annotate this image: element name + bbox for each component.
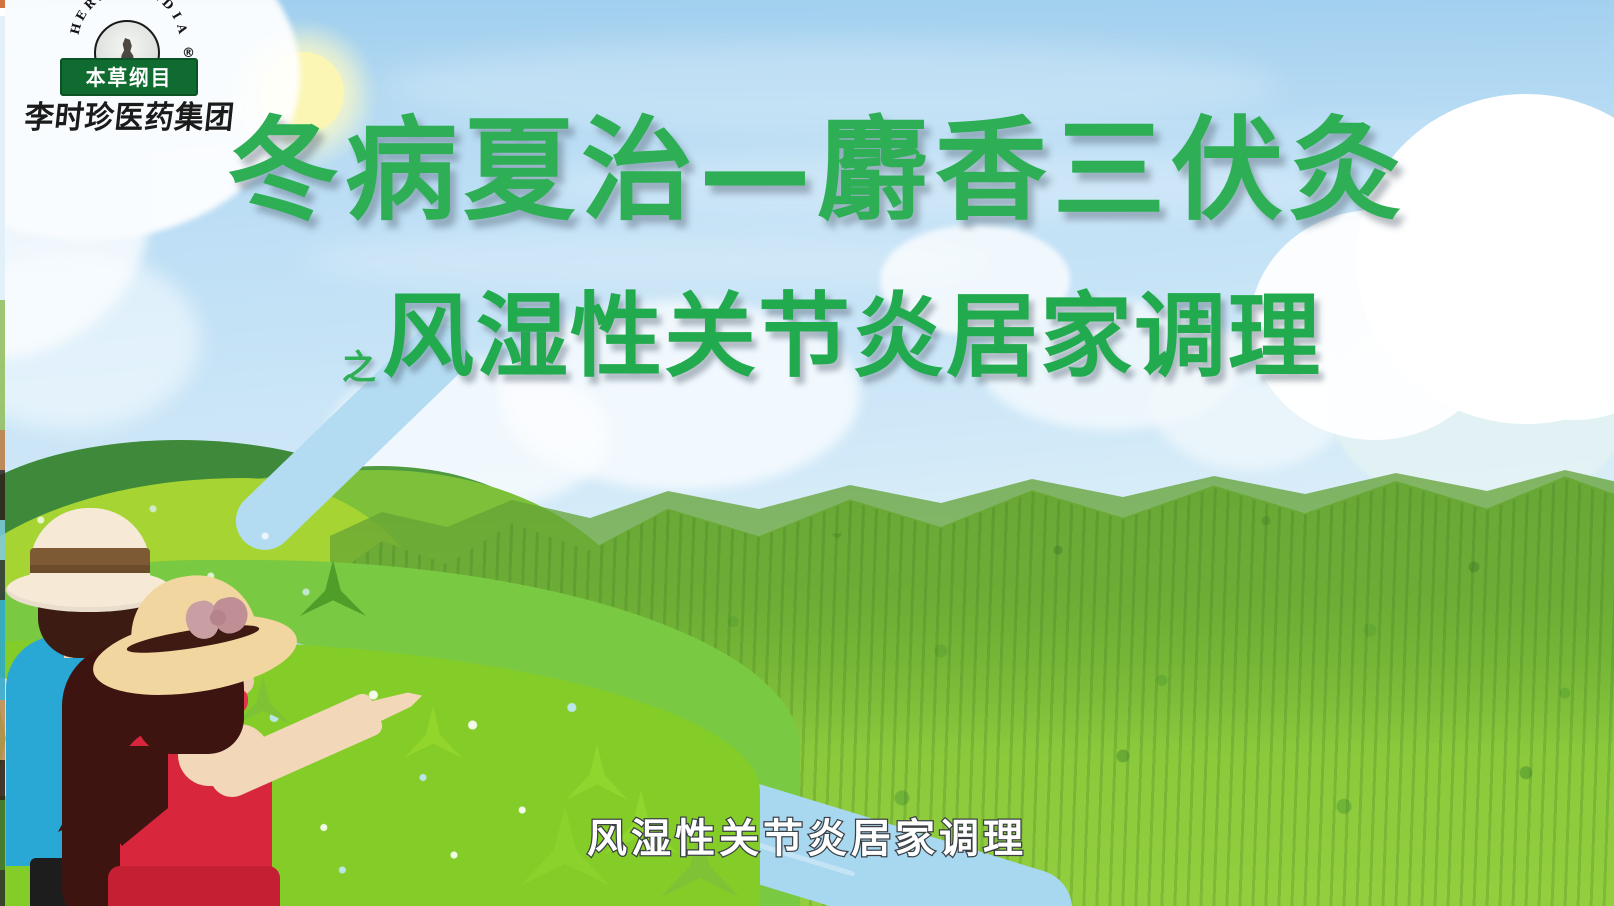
subtitle-caption: 风湿性关节炎居家调理 bbox=[0, 806, 1614, 864]
page-title: 冬病夏治—麝香三伏灸 bbox=[0, 112, 1614, 231]
man-hat-band-stripe bbox=[30, 565, 150, 573]
logo-arc-char: I bbox=[169, 10, 184, 22]
woman-pointing-hand bbox=[364, 686, 426, 726]
page-subtitle: 风湿性关节炎居家调理 bbox=[382, 262, 1322, 395]
woman-skirt bbox=[108, 866, 280, 906]
logo-arc-char: H bbox=[68, 21, 84, 36]
frame-edge-artifact bbox=[0, 0, 5, 906]
video-frame: HERBALPEDIA ® 本草纲目 李时珍医药集团 冬病夏治—麝香三伏灸 之 … bbox=[0, 0, 1614, 906]
logo-arc-char: A bbox=[174, 22, 190, 35]
logo-banner-text: 本草纲目 bbox=[86, 62, 172, 92]
brand-logo: HERBALPEDIA ® 本草纲目 李时珍医药集团 bbox=[22, 12, 242, 128]
page-subtitle-wrap: 之 风湿性关节炎居家调理 bbox=[0, 262, 1614, 395]
logo-banner: 本草纲目 bbox=[60, 58, 198, 96]
company-name: 李时珍医药集团 bbox=[20, 92, 241, 137]
subtitle-connector: 之 bbox=[342, 340, 376, 389]
